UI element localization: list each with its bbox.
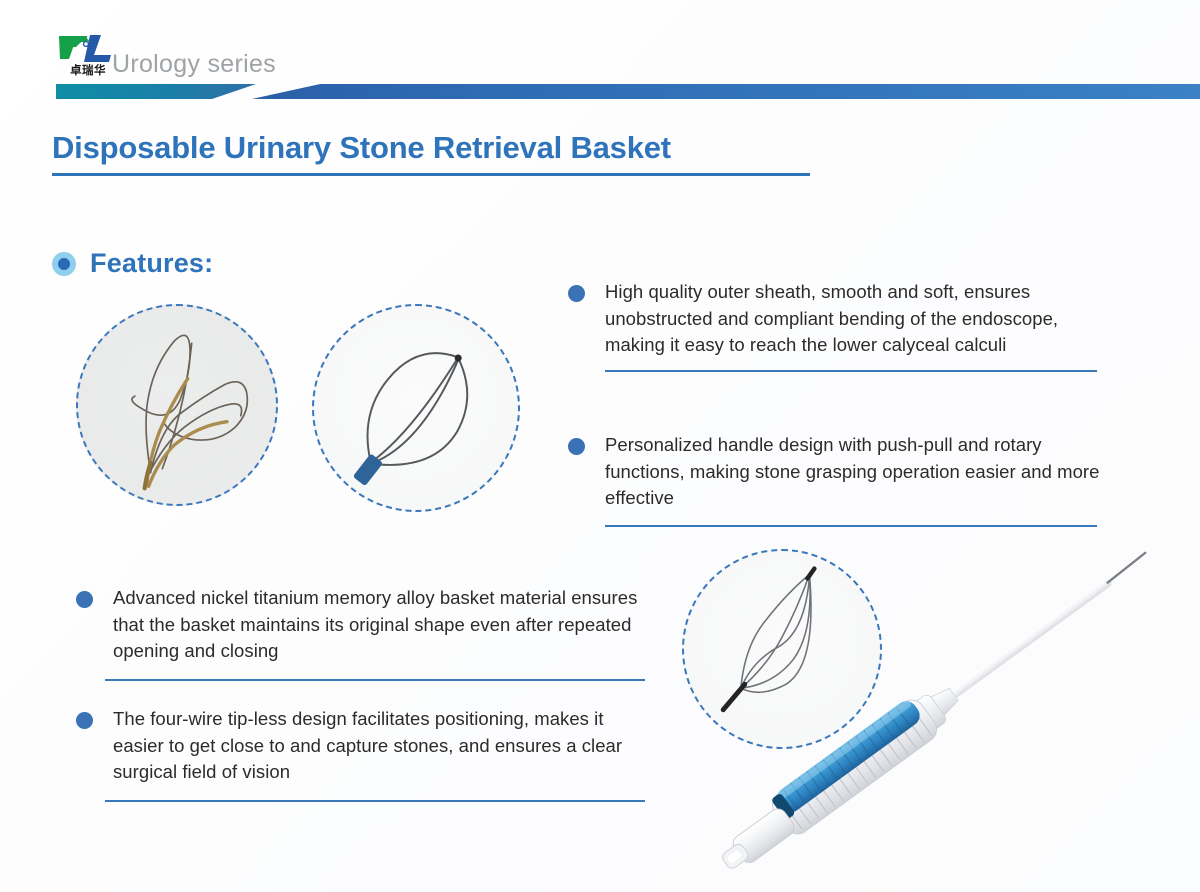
bullet-dot-icon	[76, 591, 93, 608]
page-title-block: Disposable Urinary Stone Retrieval Baske…	[52, 129, 842, 176]
feature-text: Advanced nickel titanium memory alloy ba…	[113, 585, 651, 665]
features-bullet-icon	[52, 252, 76, 276]
basket-open-wire-drawing	[78, 306, 276, 504]
feature-underline	[605, 525, 1097, 527]
feature-underline	[105, 800, 645, 802]
basket-leaf-shape-drawing	[314, 306, 518, 510]
feature-item-tipless-design: The four-wire tip-less design facilitate…	[76, 706, 651, 802]
logo-chinese-text: 卓瑞华	[57, 64, 119, 77]
bullet-dot-icon	[76, 712, 93, 729]
brand-logo: 卓瑞华	[56, 33, 118, 81]
basket-four-wire-drawing	[684, 551, 880, 747]
feature-underline	[105, 679, 645, 681]
feature-item-handle-design: Personalized handle design with push-pul…	[568, 432, 1108, 527]
slide-canvas: 卓瑞华 Urology series Disposable Urinary St…	[0, 0, 1200, 892]
logo-mark-icon	[56, 33, 118, 65]
feature-item-outer-sheath: High quality outer sheath, smooth and so…	[568, 279, 1108, 372]
feature-row: The four-wire tip-less design facilitate…	[76, 706, 651, 786]
header-band-teal	[56, 84, 256, 99]
feature-text: The four-wire tip-less design facilitate…	[113, 706, 651, 786]
feature-text: High quality outer sheath, smooth and so…	[605, 279, 1108, 359]
header: 卓瑞华 Urology series	[0, 0, 1200, 104]
basket-open-wire-photo	[76, 304, 278, 506]
feature-text: Personalized handle design with push-pul…	[605, 432, 1108, 512]
features-heading: Features:	[52, 248, 213, 279]
feature-row: Personalized handle design with push-pul…	[568, 432, 1108, 512]
bullet-dot-icon	[568, 438, 585, 455]
series-label: Urology series	[112, 50, 276, 79]
bullet-dot-icon	[568, 285, 585, 302]
feature-underline	[605, 370, 1097, 372]
feature-item-nitinol-material: Advanced nickel titanium memory alloy ba…	[76, 585, 651, 681]
title-underline	[52, 173, 810, 176]
basket-leaf-shape-photo	[312, 304, 520, 512]
page-title: Disposable Urinary Stone Retrieval Baske…	[52, 129, 842, 167]
feature-row: Advanced nickel titanium memory alloy ba…	[76, 585, 651, 665]
feature-row: High quality outer sheath, smooth and so…	[568, 279, 1108, 359]
basket-four-wire-photo	[682, 549, 882, 749]
features-heading-label: Features:	[90, 248, 213, 279]
header-band-blue	[252, 84, 1200, 99]
